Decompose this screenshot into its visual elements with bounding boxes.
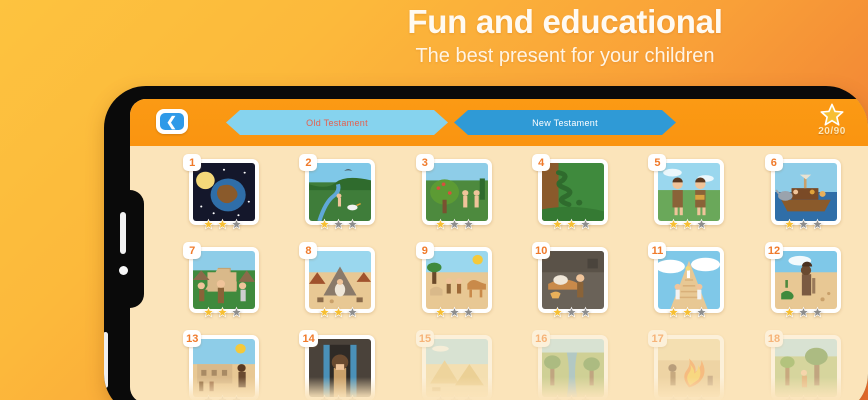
story-number: 9 — [416, 242, 434, 259]
story-star-rating — [765, 306, 843, 319]
story-star-rating — [532, 306, 610, 319]
story-card[interactable]: 10 — [532, 242, 610, 328]
story-card[interactable]: 6 — [765, 154, 843, 240]
story-star-rating — [183, 306, 261, 319]
promo-text: Fun and educational The best present for… — [330, 2, 800, 69]
story-number: 18 — [765, 330, 783, 347]
story-number: 10 — [532, 242, 550, 259]
story-card[interactable]: 18 — [765, 330, 843, 400]
story-thumbnail — [426, 251, 488, 309]
tab-new-testament-label: New Testament — [532, 118, 598, 128]
story-thumbnail — [542, 339, 604, 397]
story-card[interactable]: 7 — [183, 242, 261, 328]
tab-old-testament[interactable]: Old Testament — [226, 110, 448, 135]
phone-screen: ❮ Old Testament New Testament 20/90 — [130, 99, 868, 400]
promo-title: Fun and educational — [330, 2, 800, 42]
story-thumbnail — [426, 163, 488, 221]
story-thumbnail — [542, 251, 604, 309]
story-number: 7 — [183, 242, 201, 259]
story-star-rating — [183, 218, 261, 231]
story-card[interactable]: 13 — [183, 330, 261, 400]
testament-tabs: Old Testament New Testament — [226, 110, 676, 135]
story-card[interactable]: 3 — [416, 154, 494, 240]
story-star-rating — [765, 394, 843, 400]
story-thumbnail — [658, 163, 720, 221]
story-number: 5 — [648, 154, 666, 171]
front-camera — [119, 266, 128, 275]
story-number: 17 — [648, 330, 666, 347]
story-thumbnail — [542, 163, 604, 221]
story-card[interactable]: 9 — [416, 242, 494, 328]
story-card[interactable]: 15 — [416, 330, 494, 400]
app-header: ❮ Old Testament New Testament 20/90 — [130, 99, 868, 146]
story-number: 3 — [416, 154, 434, 171]
story-star-rating — [532, 218, 610, 231]
story-star-rating — [648, 218, 726, 231]
promo-subtitle: The best present for your children — [330, 43, 800, 69]
score-value: 20/90 — [810, 126, 854, 137]
story-star-rating — [765, 218, 843, 231]
earpiece-speaker — [120, 212, 126, 254]
story-thumbnail — [775, 163, 837, 221]
story-card[interactable]: 11 — [648, 242, 726, 328]
story-thumbnail — [309, 163, 371, 221]
back-button[interactable]: ❮ — [156, 109, 188, 134]
story-star-rating — [532, 394, 610, 400]
story-card[interactable]: 4 — [532, 154, 610, 240]
story-number: 14 — [299, 330, 317, 347]
story-card[interactable]: 17 — [648, 330, 726, 400]
chevron-left-icon: ❮ — [160, 113, 184, 130]
story-number: 13 — [183, 330, 201, 347]
phone-side-button[interactable] — [104, 332, 108, 388]
tab-old-testament-label: Old Testament — [306, 118, 368, 128]
story-star-rating — [299, 218, 377, 231]
story-card[interactable]: 16 — [532, 330, 610, 400]
score-badge[interactable]: 20/90 — [810, 103, 854, 137]
story-thumbnail — [193, 251, 255, 309]
story-thumbnail — [658, 251, 720, 309]
story-thumbnail — [309, 251, 371, 309]
story-star-rating — [648, 306, 726, 319]
story-star-rating — [648, 394, 726, 400]
phone-mockup: ❮ Old Testament New Testament 20/90 — [104, 86, 868, 400]
story-number: 12 — [765, 242, 783, 259]
tab-new-testament[interactable]: New Testament — [454, 110, 676, 135]
story-thumbnail — [193, 339, 255, 397]
story-number: 11 — [648, 242, 666, 259]
story-card[interactable]: 5 — [648, 154, 726, 240]
story-number: 16 — [532, 330, 550, 347]
story-thumbnail — [775, 339, 837, 397]
story-star-rating — [183, 394, 261, 400]
story-thumbnail — [309, 339, 371, 397]
story-star-rating — [299, 394, 377, 400]
story-star-rating — [416, 394, 494, 400]
story-thumbnail — [658, 339, 720, 397]
story-number: 2 — [299, 154, 317, 171]
story-number: 8 — [299, 242, 317, 259]
phone-notch — [104, 190, 144, 308]
story-card[interactable]: 8 — [299, 242, 377, 328]
story-thumbnail — [775, 251, 837, 309]
story-card[interactable]: 2 — [299, 154, 377, 240]
story-star-rating — [299, 306, 377, 319]
story-card[interactable]: 12 — [765, 242, 843, 328]
story-number: 15 — [416, 330, 434, 347]
story-star-rating — [416, 218, 494, 231]
story-thumbnail — [193, 163, 255, 221]
story-number: 1 — [183, 154, 201, 171]
story-grid[interactable]: 1 2 — [130, 146, 868, 400]
story-star-rating — [416, 306, 494, 319]
star-icon — [819, 103, 845, 128]
story-card[interactable]: 14 — [299, 330, 377, 400]
story-number: 6 — [765, 154, 783, 171]
story-card[interactable]: 1 — [183, 154, 261, 240]
story-number: 4 — [532, 154, 550, 171]
story-thumbnail — [426, 339, 488, 397]
